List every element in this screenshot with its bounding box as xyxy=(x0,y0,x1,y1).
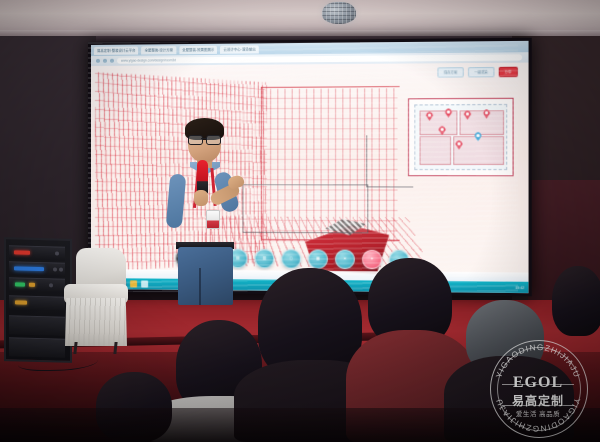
light-icon[interactable]: ☀ xyxy=(335,250,355,270)
rack-unit-processor xyxy=(9,277,65,292)
callout-leader-line xyxy=(366,135,413,187)
minimap-inner xyxy=(414,104,507,170)
led-indicator-amber xyxy=(15,300,27,304)
reload-icon[interactable] xyxy=(110,59,114,63)
floorplan-minimap[interactable] xyxy=(408,98,514,177)
rack-unit-mixer xyxy=(9,261,65,276)
chair-leg xyxy=(113,342,117,354)
taskbar-clock: 15:42 xyxy=(515,285,524,289)
back-icon[interactable] xyxy=(96,59,100,63)
callout-selection-box xyxy=(242,184,368,233)
render-icon[interactable]: ✦ xyxy=(362,250,382,270)
rack-knob[interactable] xyxy=(55,251,59,255)
led-indicator-blue xyxy=(14,266,44,271)
rack-unit-player xyxy=(9,295,65,310)
glasses-right-lens xyxy=(206,135,221,145)
seat-row-foreground xyxy=(0,408,600,442)
wall-icon[interactable]: ▥ xyxy=(255,249,274,268)
led-indicator-red xyxy=(14,250,30,254)
projected-desktop: 易高定制·整装设计云平台 全屋整装-设计方案 全屋整装-效果图展示 云设计中心·… xyxy=(91,41,529,293)
app-toolbar: 保存方案 一键渲染 分享 xyxy=(438,67,518,78)
minimap-room xyxy=(420,110,458,135)
taskbar-misc-icon[interactable] xyxy=(141,280,148,287)
led-indicator-green xyxy=(15,282,25,286)
disco-ball-icon xyxy=(322,2,356,24)
projection-screen: 易高定制·整装设计云平台 全屋整装-设计方案 全屋整装-效果图展示 云设计中心·… xyxy=(88,38,532,297)
presenter xyxy=(168,118,244,303)
led-indicator-amber xyxy=(29,283,35,287)
presenter-jeans xyxy=(178,247,233,305)
glasses-icon xyxy=(188,135,221,143)
browser-tab[interactable]: 易高定制·整装设计云平台 xyxy=(94,46,139,54)
door-icon[interactable]: ▯ xyxy=(281,249,301,268)
white-covered-chair xyxy=(62,248,130,354)
screenshot-root: 易高定制·整装设计云平台 全屋整装-设计方案 全屋整装-效果图展示 云设计中心·… xyxy=(0,0,600,442)
share-button[interactable]: 分享 xyxy=(498,67,518,77)
taskbar-folder-icon[interactable] xyxy=(130,280,137,287)
render-button[interactable]: 一键渲染 xyxy=(468,67,494,77)
forward-icon[interactable] xyxy=(103,59,107,63)
jeans-seam xyxy=(199,268,201,305)
ceiling xyxy=(0,0,600,34)
glasses-left-lens xyxy=(188,135,203,145)
presenter-hand-holding-mic xyxy=(194,190,208,206)
design-canvas-3d[interactable]: 保存方案 一键渲染 分享 xyxy=(91,63,529,294)
name-badge xyxy=(206,210,220,229)
browser-tab[interactable]: 云设计中心·渲染输出 xyxy=(220,45,258,53)
rack-knob[interactable] xyxy=(49,283,53,287)
minimap-room xyxy=(420,136,452,165)
save-button[interactable]: 保存方案 xyxy=(438,67,464,77)
cabinet-icon[interactable]: ▦ xyxy=(308,249,328,268)
rack-knob[interactable] xyxy=(53,267,57,271)
chair-leg xyxy=(73,342,77,354)
rack-unit-amplifier xyxy=(9,245,65,260)
browser-tab[interactable]: 全屋整装-设计方案 xyxy=(142,46,177,54)
handheld-microphone xyxy=(197,160,208,194)
audience-head xyxy=(552,266,600,336)
rack-unit-blank xyxy=(9,315,65,335)
chair-skirt xyxy=(65,298,127,346)
browser-tab[interactable]: 全屋整装-效果图展示 xyxy=(179,45,217,53)
